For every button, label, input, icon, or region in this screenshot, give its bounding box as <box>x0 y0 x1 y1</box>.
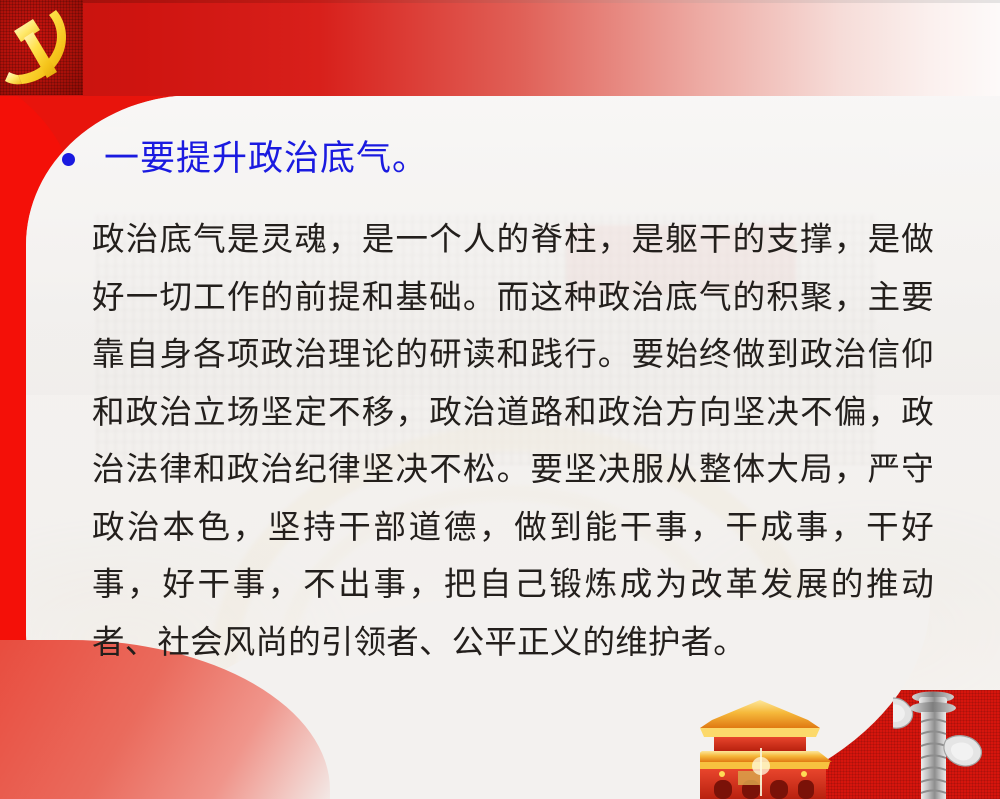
slide-body-paragraph: 政治底气是灵魂，是一个人的脊柱，是躯干的支撑，是做好一切工作的前提和基础。而这种… <box>92 212 934 672</box>
slide-text-layer: 一要提升政治底气。 政治底气是灵魂，是一个人的脊柱，是躯干的支撑，是做好一切工作… <box>0 0 1000 799</box>
bullet-dot-icon <box>62 153 75 166</box>
headline-row: 一要提升政治底气。 <box>62 141 428 178</box>
slide-headline: 一要提升政治底气。 <box>104 141 428 178</box>
presentation-slide: 一要提升政治底气。 政治底气是灵魂，是一个人的脊柱，是躯干的支撑，是做好一切工作… <box>0 0 1000 799</box>
